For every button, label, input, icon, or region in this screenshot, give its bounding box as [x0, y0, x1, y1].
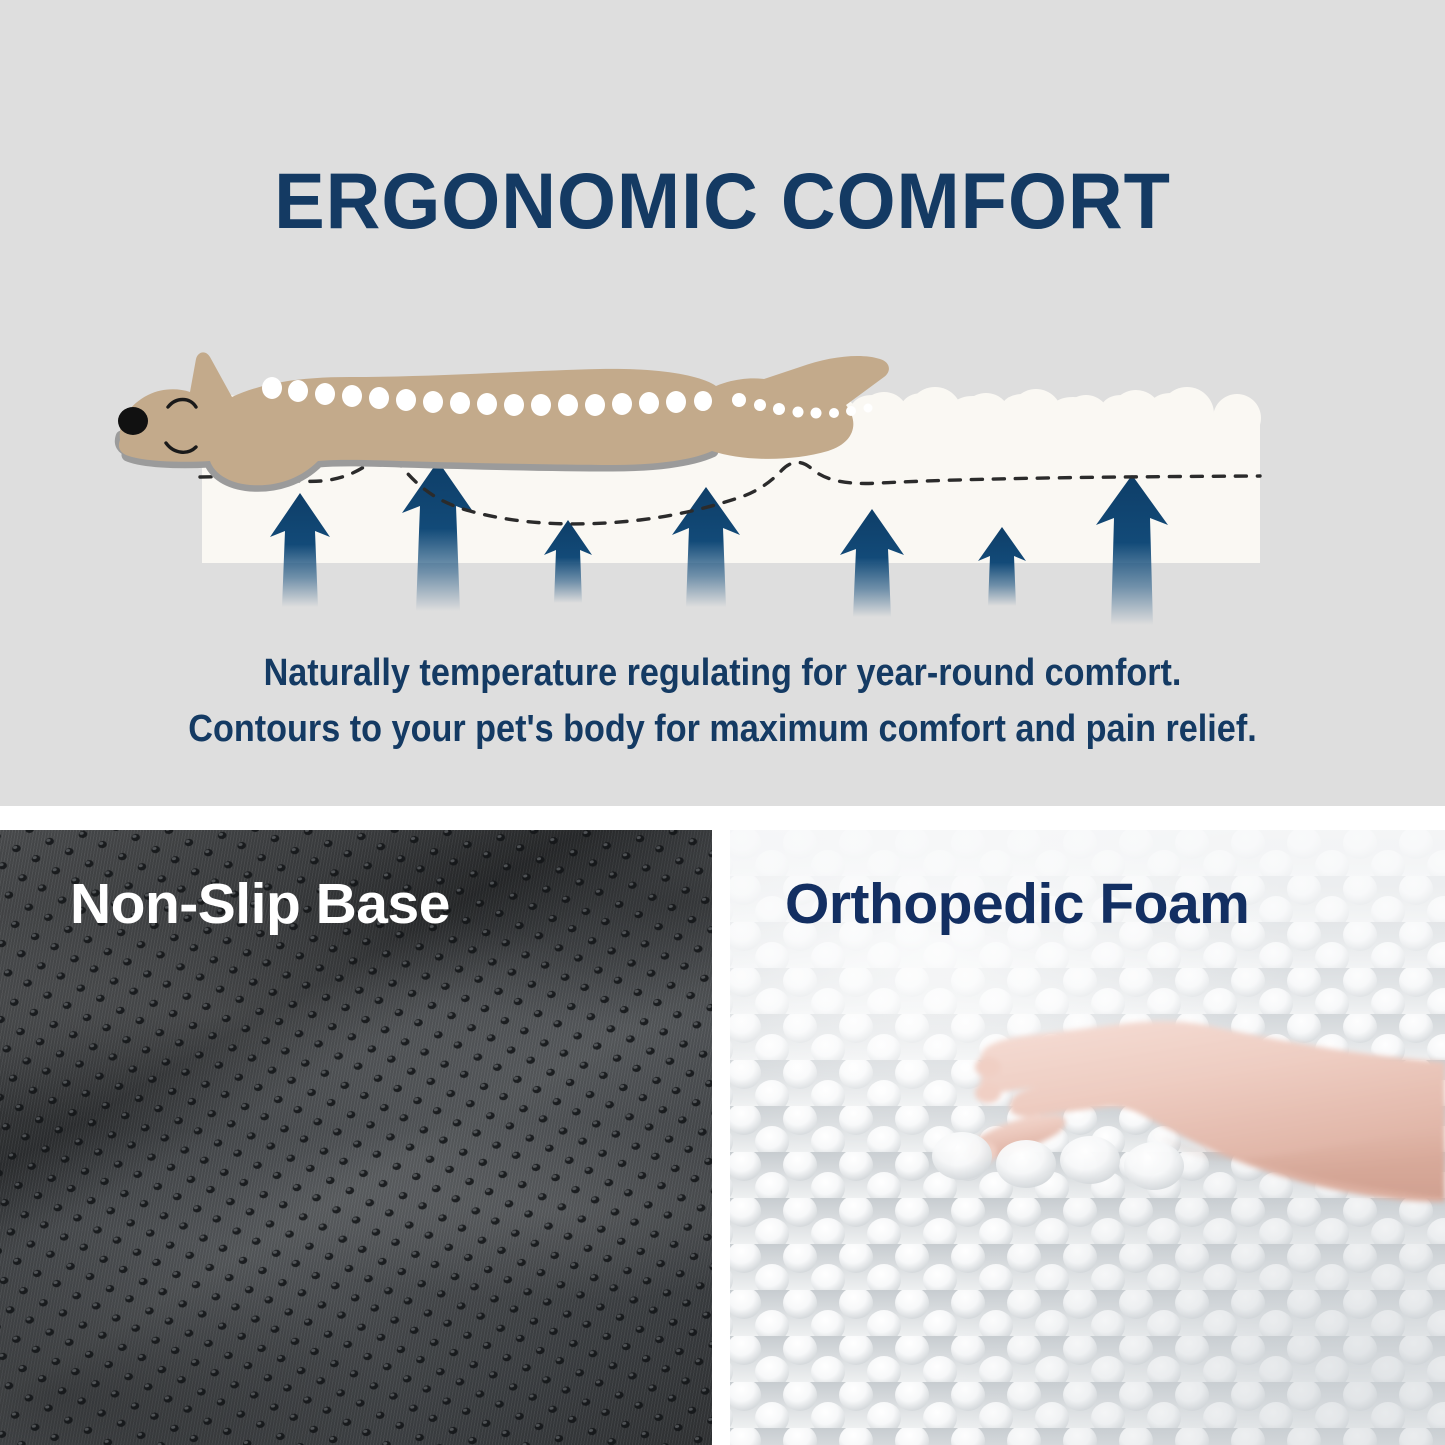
dog-spine-dots	[262, 377, 873, 419]
support-arrows	[270, 461, 1168, 625]
mattress-scallops	[204, 387, 1261, 444]
dog-illustration	[118, 352, 889, 485]
arrow-3	[544, 520, 592, 603]
dog-body	[119, 352, 889, 485]
panel-label-orthopedic-foam: Orthopedic Foam	[785, 876, 1249, 933]
diagram-svg	[0, 255, 1445, 640]
mattress-body	[202, 391, 1196, 563]
dog-on-mattress-illustration	[0, 255, 1445, 640]
mattress-body-fill	[202, 417, 1260, 563]
arrow-1	[270, 493, 330, 607]
panel-non-slip-base: Non-Slip Base	[0, 830, 712, 1445]
caption-line-1: Naturally temperature regulating for yea…	[72, 645, 1373, 701]
arrow-7	[1096, 475, 1168, 625]
caption-line-2: Contours to your pet's body for maximum …	[72, 701, 1373, 757]
arrow-5	[840, 509, 904, 617]
arrow-4	[672, 487, 740, 607]
mattress-lower	[202, 427, 1260, 563]
arrow-2	[402, 461, 474, 611]
foam-top-blur	[730, 830, 1445, 1080]
panel-label-non-slip-base: Non-Slip Base	[70, 876, 450, 933]
feature-panels: Non-Slip Base	[0, 830, 1445, 1445]
dog-eye-icon	[168, 400, 196, 408]
panel-orthopedic-foam: Orthopedic Foam	[730, 830, 1445, 1445]
body-contour-dashed-line	[200, 457, 1260, 523]
dog-shadow	[121, 437, 712, 485]
dog-mouth-icon	[166, 443, 196, 452]
mattress-slab	[202, 387, 1261, 563]
page-title: ERGONOMIC COMFORT	[29, 161, 1416, 240]
ergonomic-comfort-section: ERGONOMIC COMFORT	[0, 0, 1445, 806]
hero-caption: Naturally temperature regulating for yea…	[0, 645, 1445, 757]
arrow-6	[978, 527, 1026, 606]
dog-nose-icon	[118, 407, 148, 435]
infographic-page: ERGONOMIC COMFORT	[0, 0, 1445, 1445]
